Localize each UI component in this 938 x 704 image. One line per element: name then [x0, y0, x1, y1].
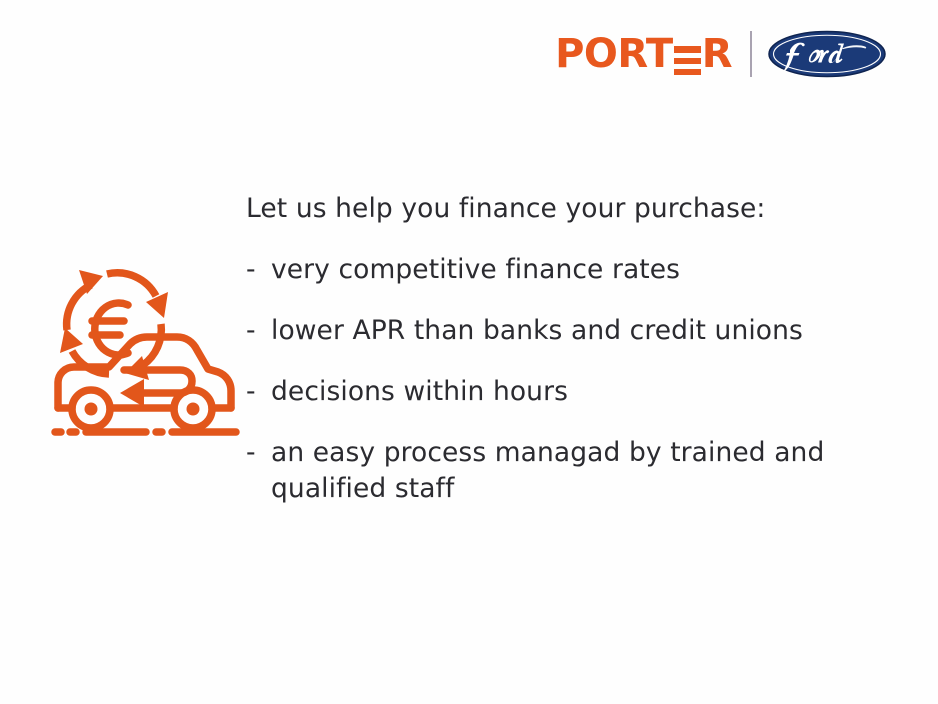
bullet-marker: - — [246, 313, 271, 349]
list-item: - lower APR than banks and credit unions — [246, 313, 886, 349]
porter-logo-letter-e — [674, 46, 701, 75]
bullet-marker: - — [246, 435, 271, 471]
benefits-list: - very competitive finance rates - lower… — [246, 252, 886, 507]
list-item: - decisions within hours — [246, 374, 886, 410]
brand-divider — [750, 31, 752, 77]
page-title: Let us help you finance your purchase: — [246, 192, 886, 226]
list-item: - an easy process managad by trained and… — [246, 435, 886, 507]
bullet-marker: - — [246, 374, 271, 410]
brand-bar: PORT R — [555, 26, 886, 82]
bullet-marker: - — [246, 252, 271, 288]
finance-slide: PORT R — [0, 0, 938, 704]
list-item-label: lower APR than banks and credit unions — [271, 313, 886, 349]
car-finance-euro-icon — [46, 252, 241, 448]
ford-oval-logo — [768, 30, 886, 78]
porter-logo-text-part1: PORT — [555, 34, 673, 74]
finance-copy-block: Let us help you finance your purchase: -… — [246, 192, 886, 507]
list-item: - very competitive finance rates — [246, 252, 886, 288]
list-item-label: decisions within hours — [271, 374, 886, 410]
list-item-label: an easy process managad by trained and q… — [271, 435, 886, 507]
porter-logo-text-part2: R — [702, 34, 732, 74]
porter-logo: PORT R — [555, 34, 732, 74]
list-item-label: very competitive finance rates — [271, 252, 886, 288]
